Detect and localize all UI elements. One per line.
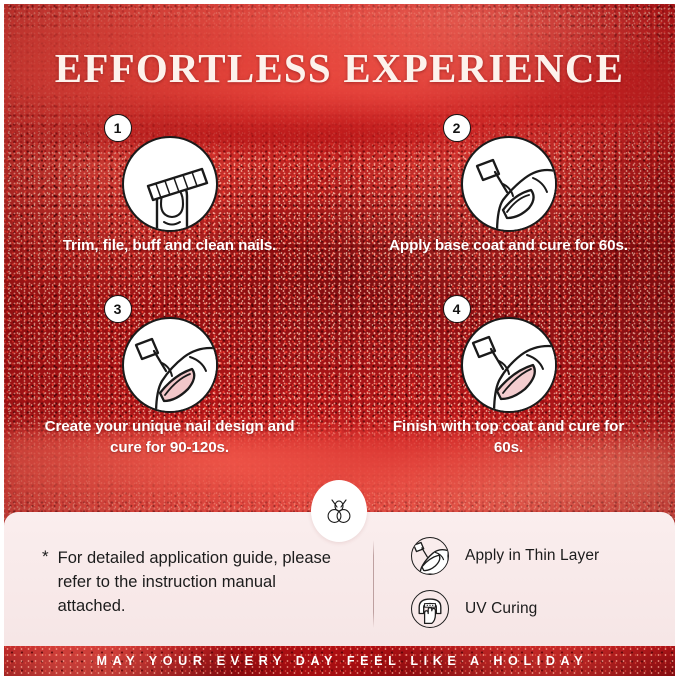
step-3-icon-group: 3: [110, 299, 230, 397]
steps-grid: 1 Trim, file, buff and clean nails.: [0, 118, 679, 459]
asterisk-marker: *: [42, 546, 49, 619]
step-1-caption: Trim, file, buff and clean nails.: [45, 236, 295, 257]
step-2-icon-group: 2: [449, 118, 569, 216]
steps-row-1: 1 Trim, file, buff and clean nails.: [0, 118, 679, 257]
step-3-number: 3: [104, 295, 132, 323]
step-4-number: 4: [443, 295, 471, 323]
step-item-1: 1 Trim, file, buff and clean nails.: [0, 118, 339, 257]
steps-row-2: 3 Create your unique nail design and cur…: [0, 299, 679, 459]
thin-layer-brush-icon: [411, 537, 449, 575]
step-item-2: 2 Apply base coat and cure for 60s.: [339, 118, 678, 257]
footer-banner: MAY YOUR EVERY DAY FEEL LIKE A HOLIDAY: [4, 646, 675, 676]
brand-medallion: [311, 480, 367, 542]
feature-item-uv-curing: UV Curing: [411, 590, 675, 628]
poster-canvas: EFFORTLESS EXPERIENCE: [0, 0, 679, 679]
feature-label-uv-curing: UV Curing: [465, 600, 537, 618]
panel-features-section: Apply in Thin Layer: [370, 531, 675, 628]
uv-lamp-icon: [411, 590, 449, 628]
step-item-4: 4 Finish with top coat and cure for 60s.: [339, 299, 678, 459]
instruction-note-text: For detailed application guide, please r…: [58, 546, 342, 619]
frame-edge-right: [675, 0, 679, 679]
panel-note-section: * For detailed application guide, please…: [4, 540, 370, 619]
frame-edge-top: [0, 0, 679, 4]
panel-divider: [373, 540, 374, 628]
frame-edge-left: [0, 0, 4, 679]
footer-tagline: MAY YOUR EVERY DAY FEEL LIKE A HOLIDAY: [91, 654, 588, 668]
step-1-icon-group: 1: [110, 118, 230, 216]
step-4-icon-group: 4: [449, 299, 569, 397]
step-item-3: 3 Create your unique nail design and cur…: [0, 299, 339, 459]
top-coat-brush-icon: [461, 317, 557, 413]
nail-design-brush-icon: [122, 317, 218, 413]
step-1-number: 1: [104, 114, 132, 142]
instruction-note: * For detailed application guide, please…: [42, 546, 342, 619]
nail-file-icon: [122, 136, 218, 232]
step-3-caption: Create your unique nail design and cure …: [45, 417, 295, 459]
step-2-number: 2: [443, 114, 471, 142]
step-2-caption: Apply base coat and cure for 60s.: [384, 236, 634, 257]
step-4-caption: Finish with top coat and cure for 60s.: [384, 417, 634, 459]
feature-item-thin-layer: Apply in Thin Layer: [411, 537, 675, 575]
base-coat-brush-icon: [461, 136, 557, 232]
feature-label-thin-layer: Apply in Thin Layer: [465, 547, 599, 565]
page-title: EFFORTLESS EXPERIENCE: [0, 44, 679, 92]
butterfly-logo-icon: [324, 495, 354, 527]
